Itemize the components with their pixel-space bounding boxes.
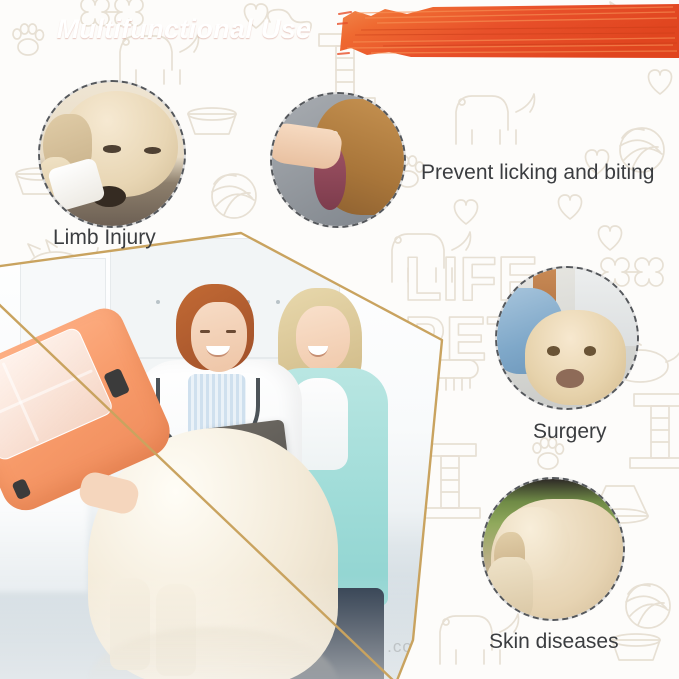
feature-label-limb-injury: Limb Injury (53, 226, 156, 250)
feature-photo-limb-injury (38, 80, 186, 228)
feature-label-prevent-licking-and-biting: Prevent licking and biting (421, 161, 654, 185)
hero-product-photo: .com (0, 228, 452, 679)
infographic-page: LIFE PET (0, 0, 679, 679)
clinic-scene (0, 228, 452, 679)
feature-label-surgery: Surgery (533, 420, 607, 444)
feature-photo-skin-diseases (481, 477, 625, 621)
feature-photo-prevent-licking-and-biting (270, 92, 406, 228)
page-title: Multifunctional Use (0, 0, 342, 58)
feature-label-skin-diseases: Skin diseases (489, 630, 619, 654)
title-banner (337, 2, 679, 60)
hero-photo-clip: .com (0, 228, 452, 679)
watermark: .com (387, 637, 428, 657)
feature-photo-surgery (495, 266, 639, 410)
